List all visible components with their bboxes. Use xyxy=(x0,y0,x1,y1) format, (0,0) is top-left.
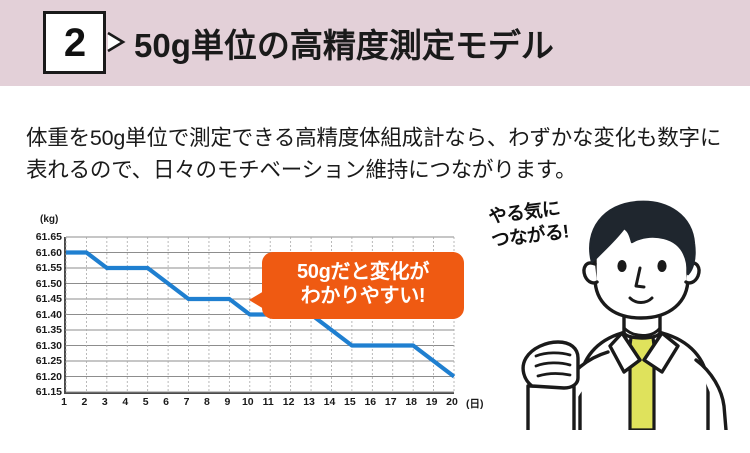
chart-y-tick-label: 61.25 xyxy=(24,355,62,367)
chart-callout-bubble: 50gだと変化が わかりやすい! xyxy=(262,252,464,319)
chart-x-tick-label: 10 xyxy=(242,396,254,408)
chart-x-tick-label: 7 xyxy=(184,396,190,408)
chart-x-tick-label: 6 xyxy=(163,396,169,408)
chart-x-tick-label: 8 xyxy=(204,396,210,408)
chart-x-tick-label: 2 xyxy=(81,396,87,408)
chart-x-tick-label: 11 xyxy=(263,396,274,408)
callout-tail-icon xyxy=(249,291,264,309)
chart-x-axis: (日) 1234567891011121314151617181920 xyxy=(64,396,452,414)
chart-y-tick-label: 61.60 xyxy=(24,247,62,259)
callout-line-2: わかりやすい! xyxy=(272,284,454,308)
chart-y-tick-label: 61.20 xyxy=(24,371,62,383)
step-number: 2 xyxy=(64,23,85,63)
header-band: 2 50g単位の高精度測定モデル xyxy=(0,0,750,86)
chart-x-tick-label: 1 xyxy=(61,396,67,408)
chart-y-axis: 61.6561.6061.5561.5061.4561.4061.3561.30… xyxy=(22,214,62,419)
chart-y-tick-label: 61.55 xyxy=(24,262,62,274)
chart-x-tick-label: 5 xyxy=(143,396,149,408)
chart-x-tick-label: 3 xyxy=(102,396,108,408)
chart-x-tick-label: 18 xyxy=(405,396,417,408)
chart-y-tick-label: 61.65 xyxy=(24,231,62,243)
chart-x-tick-label: 9 xyxy=(224,396,230,408)
page-title: 50g単位の高精度測定モデル xyxy=(134,12,554,74)
body-paragraph: 体重を50g単位で測定できる高精度体組成計なら、わずかな変化も数字に表れるので、… xyxy=(26,122,726,187)
chart-x-tick-label: 17 xyxy=(385,396,397,408)
chart-x-tick-label: 4 xyxy=(122,396,128,408)
chart-x-tick-label: 13 xyxy=(303,396,315,408)
chart-y-tick-label: 61.35 xyxy=(24,324,62,336)
callout-line-1: 50gだと変化が xyxy=(272,260,454,284)
chart-y-tick-label: 61.45 xyxy=(24,293,62,305)
chart-x-tick-label: 20 xyxy=(446,396,458,408)
chart-y-tick-label: 61.40 xyxy=(24,309,62,321)
chart-y-tick-label: 61.30 xyxy=(24,340,62,352)
chart-x-tick-label: 16 xyxy=(364,396,376,408)
chart-x-tick-label: 14 xyxy=(324,396,336,408)
chart-x-tick-label: 12 xyxy=(283,396,295,408)
step-number-badge: 2 xyxy=(43,11,106,74)
person-illustration xyxy=(512,190,750,430)
chart-x-axis-unit: (日) xyxy=(466,396,484,411)
chevron-right-icon xyxy=(104,29,130,55)
chart-y-tick-label: 61.50 xyxy=(24,278,62,290)
chart-x-tick-label: 19 xyxy=(426,396,438,408)
chart-x-tick-label: 15 xyxy=(344,396,356,408)
chart-y-tick-label: 61.15 xyxy=(24,386,62,398)
